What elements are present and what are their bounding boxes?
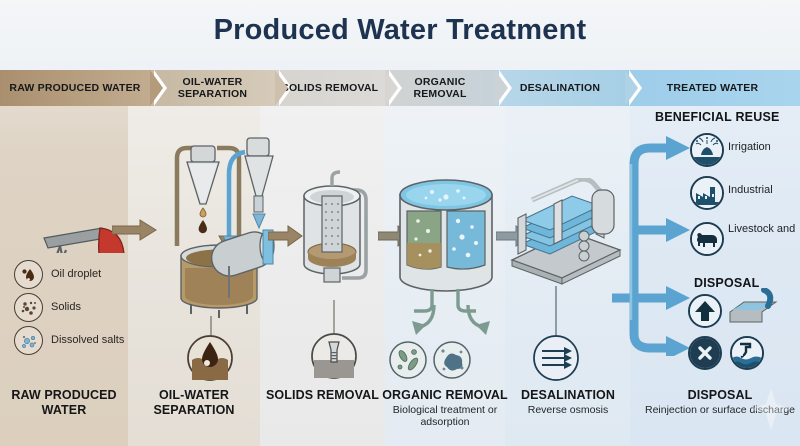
outfall-icon: [730, 336, 764, 370]
caption-solids-removal: SOLIDS REMOVAL: [260, 388, 385, 403]
organic-floc-icon: [432, 340, 472, 380]
chevron-label: DESALINATION: [514, 82, 606, 95]
organic-removal-illustration: [390, 165, 506, 315]
contaminant-legend: Oil droplet Solids: [14, 258, 124, 357]
caption-title: DESALINATION: [521, 388, 615, 402]
legend-label: Solids: [51, 301, 81, 314]
infographic-canvas: Produced Water Treatment RAW PRODUCED WA…: [0, 0, 800, 446]
irrigation-icon: [690, 133, 724, 167]
legend-label: Oil droplet: [51, 268, 101, 281]
chevron-label: RAW PRODUCED WATER: [3, 82, 146, 95]
caption-title: SOLIDS REMOVAL: [266, 388, 379, 402]
desalination-ro-skid-illustration: [508, 178, 626, 288]
oil-droplet-badge-icon: [186, 334, 234, 382]
legend-item: Oil droplet: [14, 258, 124, 291]
caption-organic-removal: ORGANIC REMOVAL Biological treatment or …: [379, 388, 511, 429]
no-discharge-icon: [688, 336, 722, 370]
chevron-label: ORGANIC REMOVAL: [385, 76, 495, 101]
chevron-raw-produced-water[interactable]: RAW PRODUCED WATER: [0, 70, 150, 106]
solids-filter-badge-icon: [310, 332, 358, 380]
livestock-icon: [690, 222, 724, 256]
industrial-icon: [690, 176, 724, 210]
stage-chevron-bar: RAW PRODUCED WATER OIL-WATER SEPARATION …: [0, 70, 800, 106]
flow-arrow-1-icon: [112, 218, 158, 242]
oil-droplet-icon: [14, 260, 43, 289]
treated-water-distribution-manifold: [612, 134, 702, 356]
chevron-treated-water[interactable]: TREATED WATER: [625, 70, 800, 106]
chevron-oil-water-separation[interactable]: OIL-WATER SEPARATION: [150, 70, 275, 106]
reverse-osmosis-badge-icon: [532, 334, 580, 382]
oil-water-separation-illustration: [155, 118, 285, 323]
connector-line-desalination: [555, 286, 557, 336]
caption-title: DISPOSAL: [688, 388, 753, 402]
sparkle-watermark-icon: [748, 386, 794, 432]
caption-title: OIL-WATER SEPARATION: [153, 388, 234, 417]
caption-subtitle: Biological treatment or adsorption: [379, 404, 511, 429]
caption-title: ORGANIC REMOVAL: [382, 388, 508, 402]
connector-line-oil-water: [210, 316, 212, 336]
industrial-label: Industrial: [728, 184, 773, 197]
caption-title: RAW PRODUCED WATER: [11, 388, 116, 417]
legend-label: Dissolved salts: [51, 334, 124, 347]
chevron-label: OIL-WATER SEPARATION: [150, 76, 275, 101]
caption-oil-water-separation: OIL-WATER SEPARATION: [128, 388, 260, 417]
chevron-label: SOLIDS REMOVAL: [276, 82, 385, 95]
caption-raw-produced-water: RAW PRODUCED WATER: [0, 388, 128, 417]
legend-item: Dissolved salts: [14, 324, 124, 357]
livestock-label: Livestock and: [728, 223, 795, 236]
irrigation-label: Irrigation: [728, 141, 771, 154]
bacteria-icon: [388, 340, 428, 380]
caption-desalination: DESALINATION Reverse osmosis: [508, 388, 628, 416]
solids-icon: [14, 293, 43, 322]
surface-discharge-icon: [724, 288, 780, 330]
dissolved-salts-icon: [14, 326, 43, 355]
connector-line-solids: [333, 300, 335, 334]
legend-item: Solids: [14, 291, 124, 324]
chevron-desalination[interactable]: DESALINATION: [495, 70, 625, 106]
chevron-label: TREATED WATER: [661, 82, 764, 95]
reinjection-arrow-icon: [688, 294, 722, 328]
page-title: Produced Water Treatment: [0, 14, 800, 47]
caption-subtitle: Reverse osmosis: [508, 404, 628, 417]
beneficial-reuse-header: BENEFICIAL REUSE: [655, 110, 780, 124]
